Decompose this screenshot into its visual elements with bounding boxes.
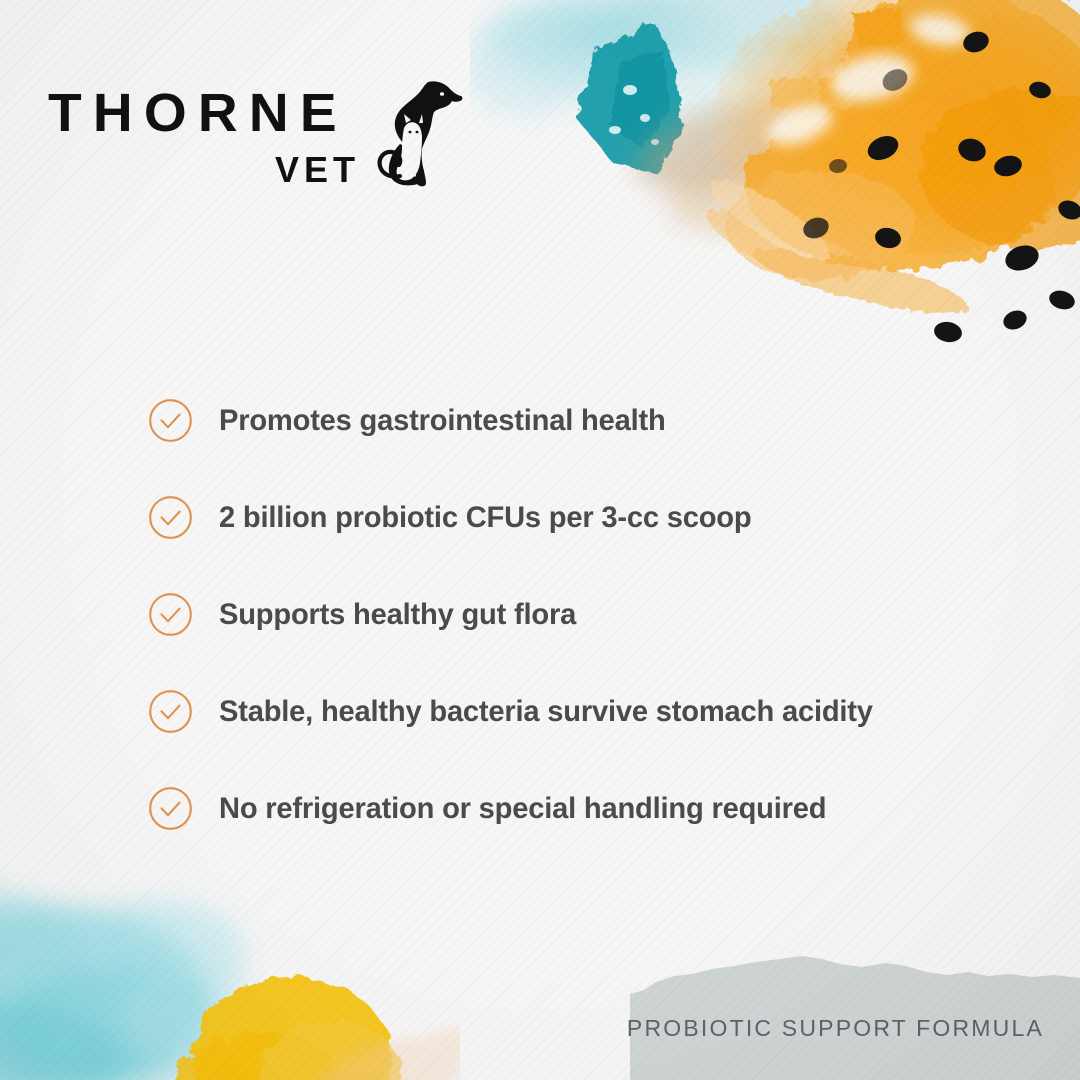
poster-canvas: THORNE VET Pr [0,0,1080,1080]
logo-wordmark: THORNE [48,86,348,140]
benefit-label: No refrigeration or special handling req… [219,792,826,826]
orange-flecks [770,8,906,110]
footer-tagline: PROBIOTIC SUPPORT FORMULA [627,1015,1044,1042]
benefit-label: Stable, healthy bacteria survive stomach… [219,695,873,729]
cyan-wash [0,890,270,1080]
check-circle-icon [148,398,193,443]
orange-streaks [699,168,972,326]
list-item: 2 billion probiotic CFUs per 3-cc scoop [148,469,1028,566]
benefit-label: Promotes gastrointestinal health [219,404,666,438]
yellow-blob [175,976,404,1080]
watercolor-splash-bottom-left [0,840,460,1080]
orange-wash [710,0,1080,280]
benefit-label: 2 billion probiotic CFUs per 3-cc scoop [219,501,751,535]
check-circle-icon [148,495,193,540]
dog-and-cat-silhouette-icon [366,76,466,188]
teal-wedge [578,25,682,176]
ink-dots [800,0,1080,344]
watercolor-splash-top-right [470,0,1080,390]
list-item: Promotes gastrointestinal health [148,372,1028,469]
teal-speckle [609,85,659,145]
teal-wash [470,0,870,130]
benefit-label: Supports healthy gut flora [219,598,576,632]
benefits-list: Promotes gastrointestinal health 2 billi… [148,372,1028,857]
peach-wash [307,1015,460,1080]
check-circle-icon [148,592,193,637]
check-circle-icon [148,689,193,734]
white-gaps [762,10,972,153]
ochre-smear [626,82,881,249]
list-item: Stable, healthy bacteria survive stomach… [148,663,1028,760]
check-circle-icon [148,786,193,831]
brand-logo: THORNE VET [48,86,342,140]
list-item: Supports healthy gut flora [148,566,1028,663]
logo-sub-wordmark: VET [275,152,360,188]
list-item: No refrigeration or special handling req… [148,760,1028,857]
